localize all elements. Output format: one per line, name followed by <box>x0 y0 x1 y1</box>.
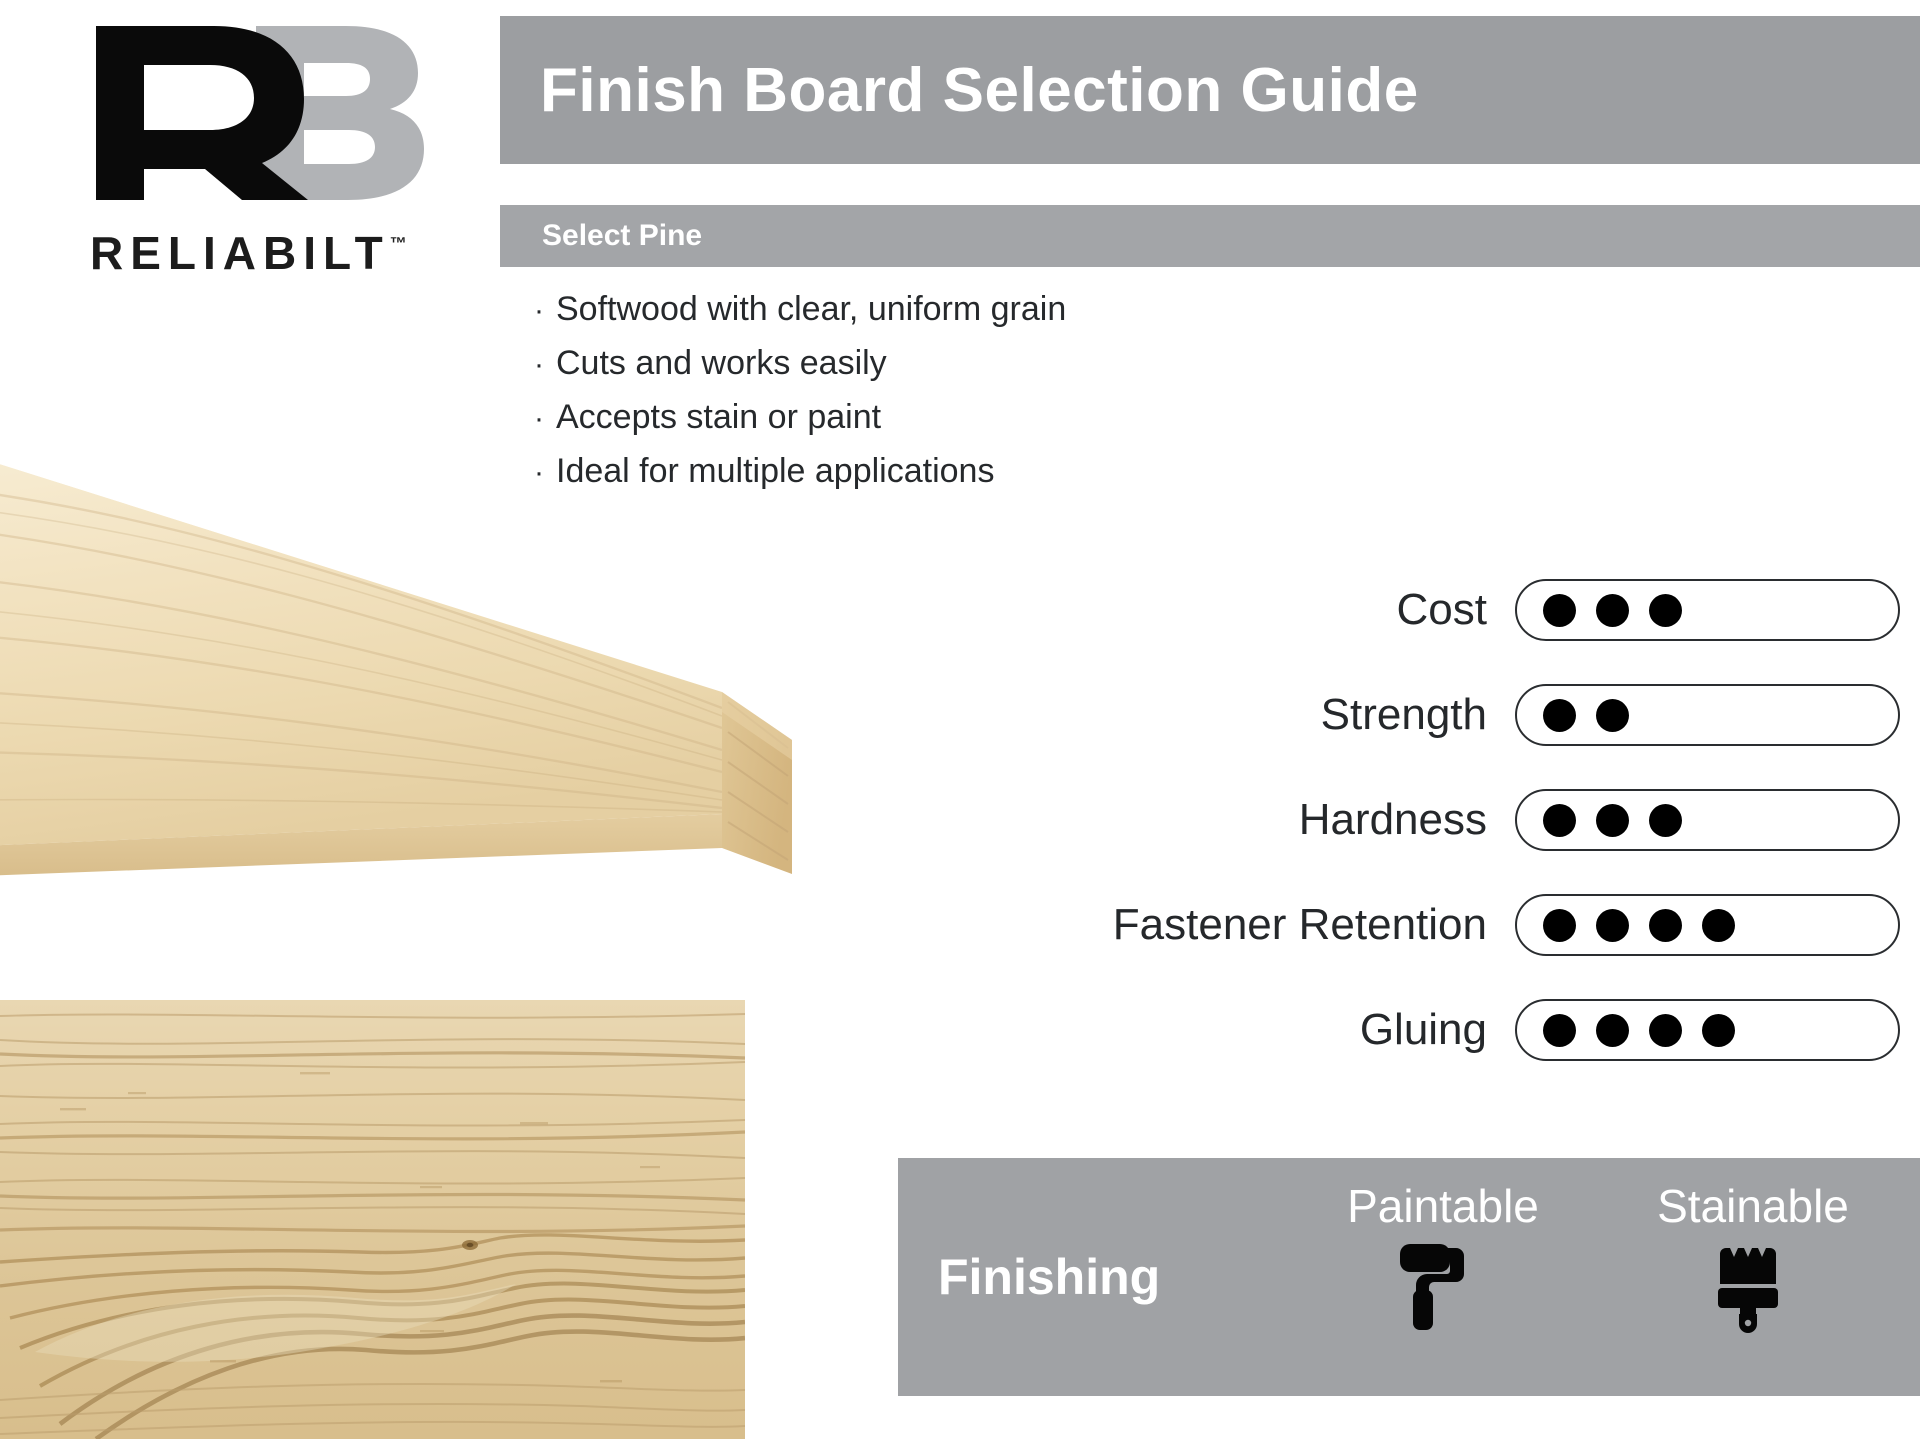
rating-pip <box>1543 804 1576 837</box>
product-name: Select Pine <box>542 219 702 253</box>
paint-roller-icon <box>1400 1242 1486 1334</box>
page-title-bar: Finish Board Selection Guide <box>500 16 1920 164</box>
rating-label: Fastener Retention <box>1113 900 1487 950</box>
rating-row-fastener-retention: Fastener Retention <box>900 887 1900 963</box>
bullet-icon: · <box>534 404 556 434</box>
rating-track <box>1515 894 1900 956</box>
rating-pip <box>1702 909 1735 942</box>
rating-pip <box>1596 1014 1629 1047</box>
rating-track <box>1515 579 1900 641</box>
rating-pip <box>1543 909 1576 942</box>
finishing-bar: Finishing Paintable Stainable <box>898 1158 1920 1396</box>
rating-pip <box>1596 804 1629 837</box>
rating-row-gluing: Gluing <box>900 992 1900 1068</box>
rating-label: Strength <box>1321 690 1487 740</box>
product-subtitle-bar: Select Pine <box>500 205 1920 267</box>
property-ratings: Cost Strength Hardness Fastener Ret <box>900 572 1900 1097</box>
rating-pip <box>1649 594 1682 627</box>
rating-pip <box>1543 699 1576 732</box>
rating-track <box>1515 684 1900 746</box>
rating-pip <box>1702 1014 1735 1047</box>
rating-pip <box>1649 1014 1682 1047</box>
rating-pip <box>1543 594 1576 627</box>
bullet-icon: · <box>534 350 556 380</box>
rating-row-strength: Strength <box>900 677 1900 753</box>
bullet-icon: · <box>534 296 556 326</box>
rating-row-hardness: Hardness <box>900 782 1900 858</box>
rb-monogram-icon <box>46 18 436 208</box>
finishing-options: Paintable Stainable <box>1288 1158 1908 1396</box>
paint-brush-icon <box>1716 1242 1790 1334</box>
rating-pip <box>1649 909 1682 942</box>
finishing-heading: Finishing <box>938 1248 1160 1306</box>
reliabilt-wordmark: RELIABILT™ <box>90 230 407 276</box>
list-item: · Softwood with clear, uniform grain <box>534 292 1294 326</box>
list-item: · Accepts stain or paint <box>534 400 1294 434</box>
rating-pip <box>1596 699 1629 732</box>
rating-pip <box>1596 909 1629 942</box>
feature-text: Accepts stain or paint <box>556 400 881 434</box>
rating-label: Hardness <box>1299 795 1487 845</box>
page-title: Finish Board Selection Guide <box>540 55 1419 126</box>
finish-option-label: Paintable <box>1347 1182 1539 1230</box>
rating-track <box>1515 789 1900 851</box>
wordmark-text: RELIABILT <box>90 227 390 279</box>
board-product-photo <box>0 440 860 920</box>
finish-option-label: Stainable <box>1657 1182 1849 1230</box>
finish-board-selection-guide-page: RELIABILT™ Finish Board Selection Guide … <box>0 0 1920 1439</box>
feature-text: Softwood with clear, uniform grain <box>556 292 1066 326</box>
rating-track <box>1515 999 1900 1061</box>
rating-row-cost: Cost <box>900 572 1900 648</box>
trademark-symbol: ™ <box>390 234 407 253</box>
rating-pip <box>1543 1014 1576 1047</box>
rating-pip <box>1649 804 1682 837</box>
list-item: · Cuts and works easily <box>534 346 1294 380</box>
finish-option-paintable: Paintable <box>1288 1182 1598 1334</box>
finish-option-stainable: Stainable <box>1598 1182 1908 1334</box>
feature-text: Cuts and works easily <box>556 346 887 380</box>
rating-label: Cost <box>1397 585 1487 635</box>
rating-label: Gluing <box>1360 1005 1487 1055</box>
rating-pip <box>1596 594 1629 627</box>
wood-grain-swatch <box>0 1000 745 1439</box>
reliabilt-logo: RELIABILT™ <box>46 18 446 288</box>
